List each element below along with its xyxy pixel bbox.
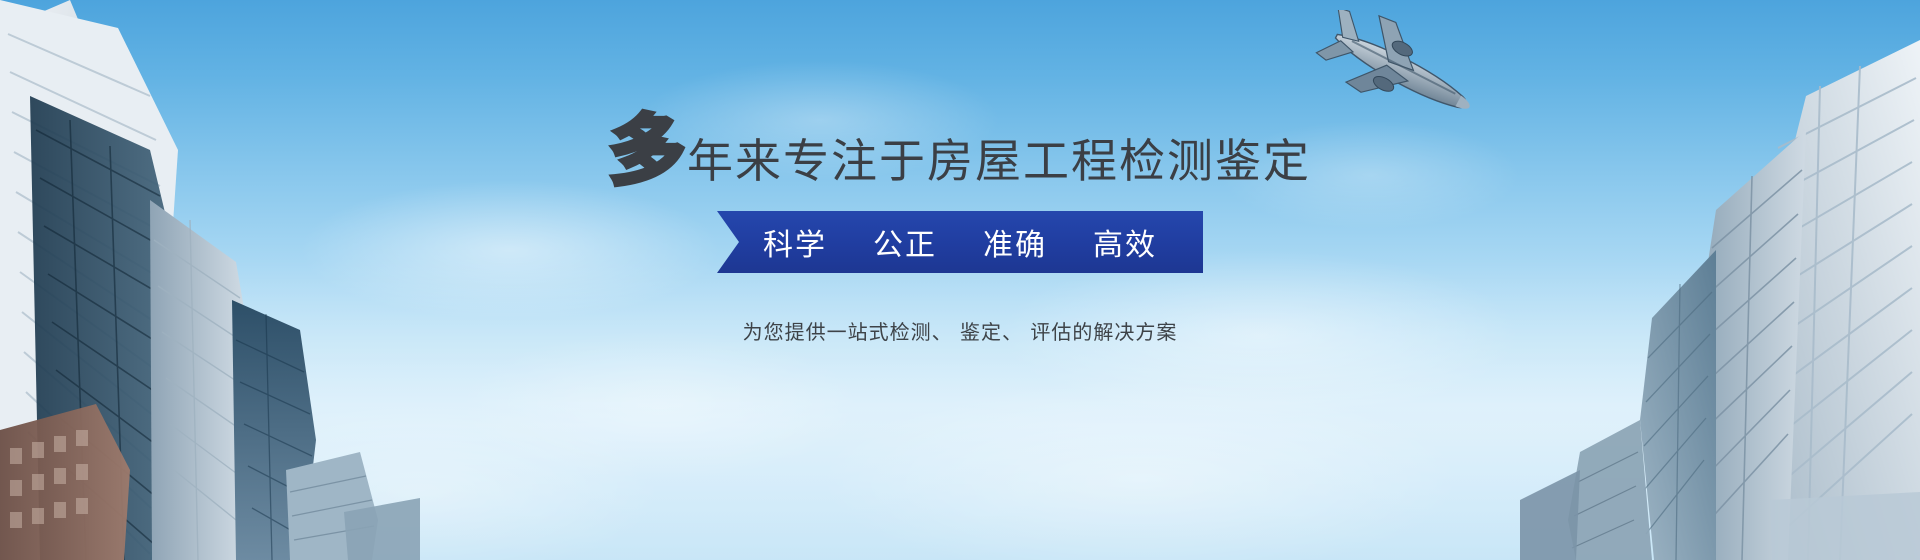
ribbon-item-3: 高效 [1093, 220, 1157, 264]
headline-text: 年来专注于房屋工程检测鉴定 [687, 138, 1311, 184]
banner-content: 多 年来专注于房屋工程检测鉴定 科学 公正 准确 高效 为您提供一站式检测、 鉴… [0, 0, 1920, 560]
page-title: 多 年来专注于房屋工程检测鉴定 [609, 112, 1311, 186]
value-ribbon: 科学 公正 准确 高效 [717, 210, 1203, 274]
hero-banner: 多 年来专注于房屋工程检测鉴定 科学 公正 准确 高效 为您提供一站式检测、 鉴… [0, 0, 1920, 560]
ribbon-item-2: 准确 [983, 220, 1047, 264]
duo-logo-glyph: 多 [609, 113, 685, 189]
ribbon-item-1: 公正 [873, 220, 937, 264]
banner-subtitle: 为您提供一站式检测、 鉴定、 评估的解决方案 [743, 316, 1178, 345]
ribbon-item-0: 科学 [763, 220, 827, 264]
ribbon-bar: 科学 公正 准确 高效 [717, 211, 1203, 273]
ribbon-items: 科学 公正 准确 高效 [763, 220, 1157, 264]
